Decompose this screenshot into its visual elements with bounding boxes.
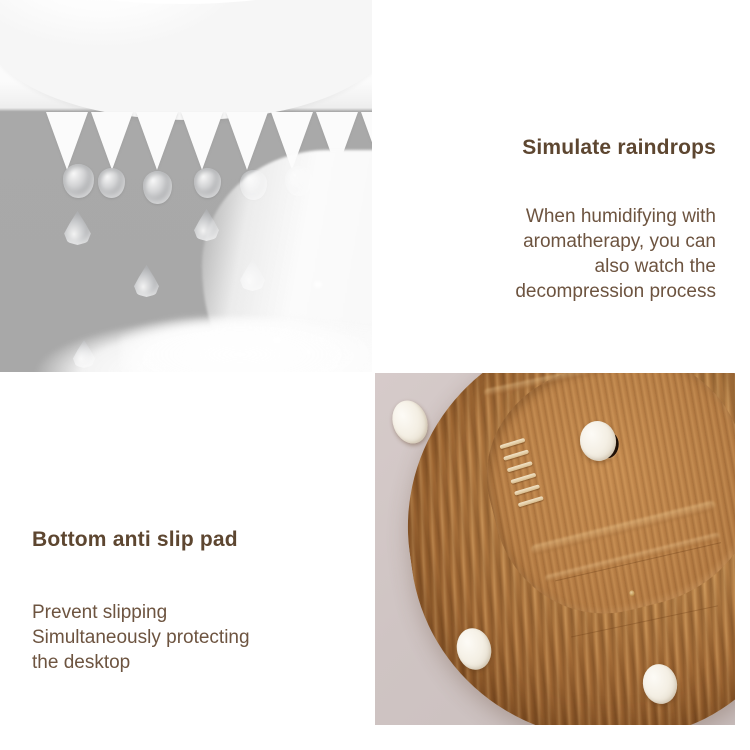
simulate-raindrops-body-line-2: aromatherapy, you can [378, 229, 716, 254]
simulate-raindrops-body-line-1: When humidifying with [378, 204, 716, 229]
simulate-raindrops-body-line-4: decompression process [378, 279, 716, 304]
raindrop-photo [0, 0, 372, 372]
foam-speck [272, 336, 282, 344]
foam-speck [314, 281, 322, 288]
water-foam-bottom-secondary [120, 316, 372, 372]
hanging-droplet [63, 164, 94, 198]
bowl-band [0, 0, 366, 4]
wood-base-photo [375, 373, 735, 725]
anti-slip-pad-top-left [387, 396, 434, 449]
anti-slip-pad-body-line-1: Prevent slipping [32, 600, 372, 625]
hanging-droplet [143, 171, 172, 204]
hanging-droplet [98, 168, 125, 198]
raindrop-photo-panel [0, 0, 372, 372]
simulate-raindrops-body-line-3: also watch the [378, 254, 716, 279]
simulate-raindrops-heading: Simulate raindrops [378, 136, 716, 160]
anti-slip-pad-text-block: Bottom anti slip pad Prevent slipping Si… [0, 528, 372, 675]
tooth [91, 112, 133, 170]
tooth [226, 112, 268, 170]
anti-slip-pad-heading: Bottom anti slip pad [32, 528, 372, 552]
foam-speck [305, 349, 312, 355]
tooth [136, 112, 178, 170]
wood-grain-disc [382, 373, 735, 725]
product-feature-page: Simulate raindrops When humidifying with… [0, 0, 750, 750]
simulate-raindrops-text-block: Simulate raindrops When humidifying with… [378, 136, 744, 304]
hanging-droplet [194, 168, 221, 198]
anti-slip-pad-body-line-2: Simultaneously protecting [32, 625, 372, 650]
anti-slip-pad-body-line-3: the desktop [32, 650, 372, 675]
tooth [181, 112, 223, 170]
wood-base-photo-panel [375, 373, 735, 725]
tooth [46, 112, 88, 170]
